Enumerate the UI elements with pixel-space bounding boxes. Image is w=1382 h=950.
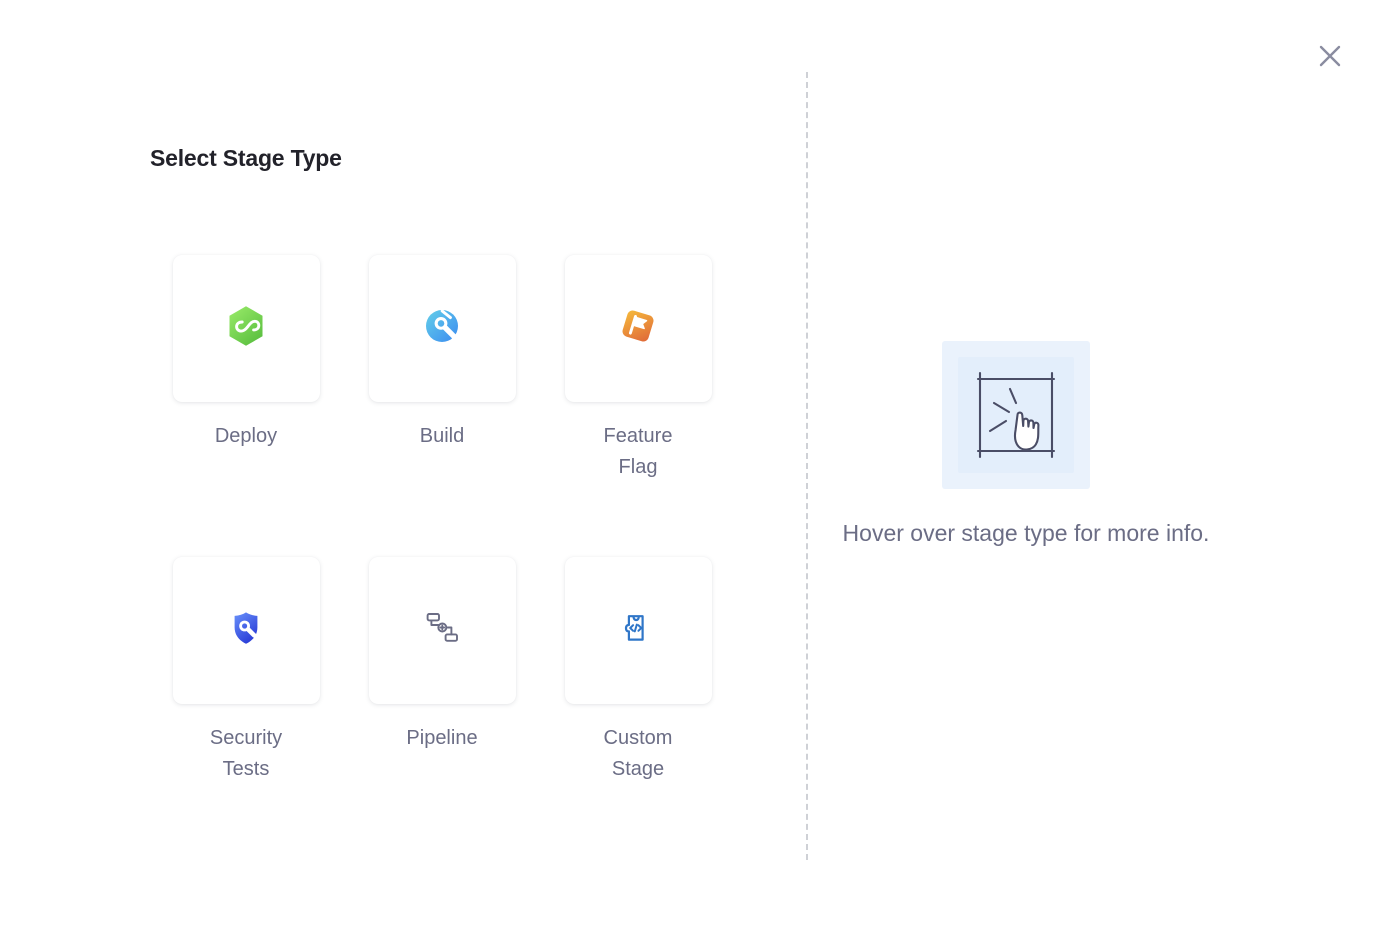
stage-type-card-build[interactable]: [369, 255, 516, 402]
stage-type-label: Pipeline: [386, 723, 498, 754]
click-hand-illustration: [942, 341, 1090, 489]
stage-type-option-security-tests[interactable]: Security Tests: [148, 557, 344, 859]
build-circle-wrench-icon: [419, 303, 465, 354]
stage-type-label: Build: [386, 421, 498, 452]
stage-type-grid: Deploy: [148, 255, 736, 859]
stage-type-label: Custom Stage: [582, 723, 694, 785]
stage-type-option-feature-flag[interactable]: Feature Flag: [540, 255, 736, 557]
stage-type-selection-pane: Select Stage Type: [0, 0, 806, 950]
stage-type-option-custom-stage[interactable]: Custom Stage: [540, 557, 736, 859]
stage-type-option-pipeline[interactable]: Pipeline: [344, 557, 540, 859]
stage-type-option-deploy[interactable]: Deploy: [148, 255, 344, 557]
pipeline-nodes-icon: [419, 605, 465, 656]
stage-type-label: Deploy: [190, 421, 302, 452]
stage-type-label: Feature Flag: [582, 421, 694, 483]
stage-type-label: Security Tests: [190, 723, 302, 785]
stage-type-option-build[interactable]: Build: [344, 255, 540, 557]
stage-type-card-feature-flag[interactable]: [565, 255, 712, 402]
stage-type-card-pipeline[interactable]: [369, 557, 516, 704]
stage-info-pane: Hover over stage type for more info.: [806, 0, 1382, 950]
custom-stage-puzzle-code-icon: [615, 605, 661, 656]
stage-type-card-security-tests[interactable]: [173, 557, 320, 704]
stage-type-card-custom-stage[interactable]: [565, 557, 712, 704]
deploy-hexagon-infinity-icon: [222, 302, 270, 355]
feature-flag-icon: [615, 303, 661, 354]
stage-type-card-deploy[interactable]: [173, 255, 320, 402]
security-shield-magnifier-icon: [223, 605, 269, 656]
hover-hint-text: Hover over stage type for more info.: [836, 515, 1216, 552]
page-title: Select Stage Type: [150, 145, 342, 172]
